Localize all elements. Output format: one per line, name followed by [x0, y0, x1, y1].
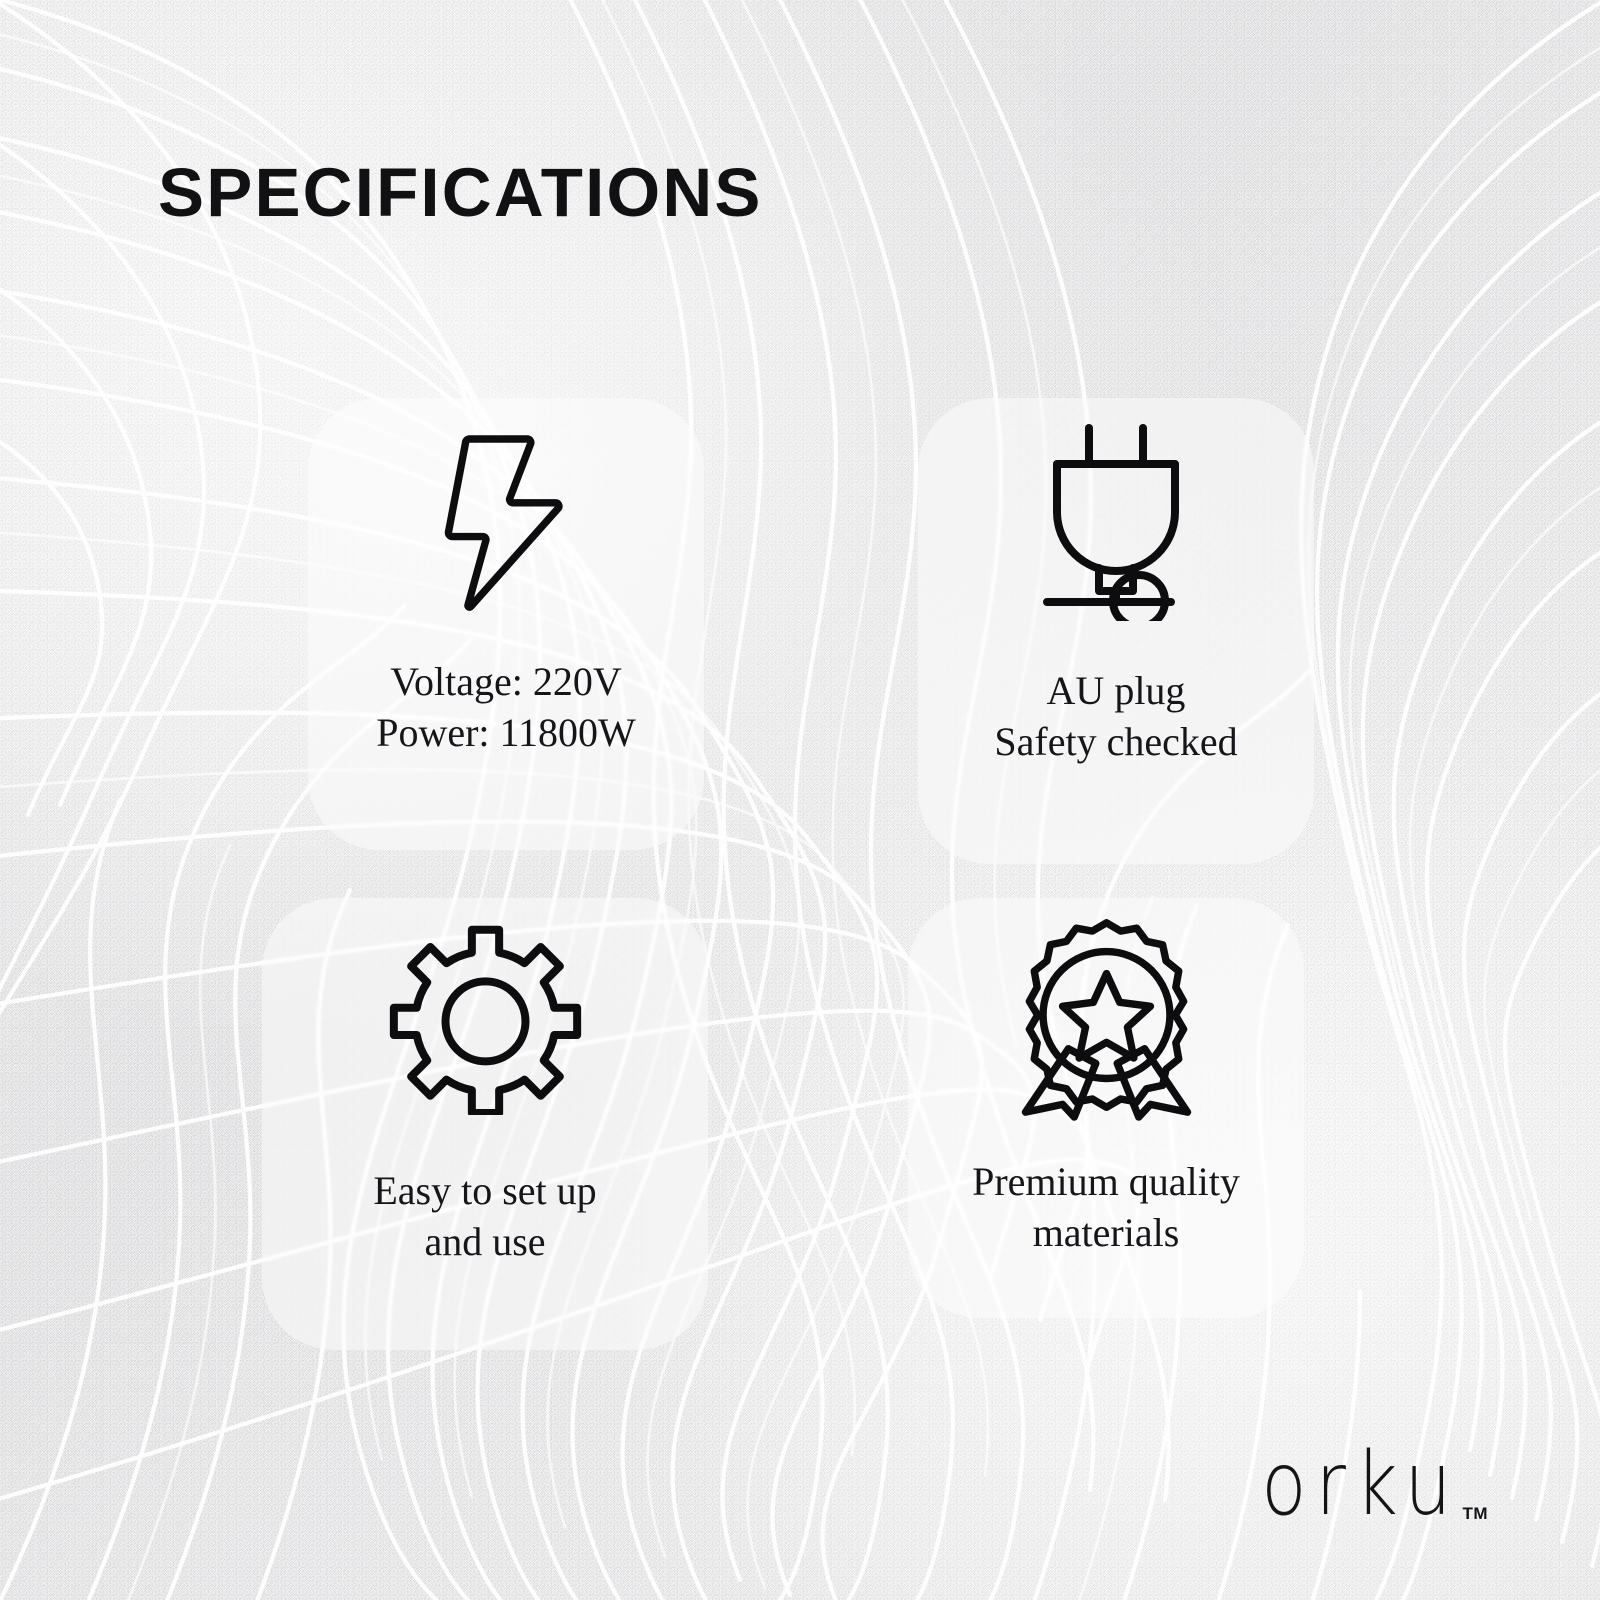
trademark-symbol: TM	[1462, 1504, 1488, 1524]
topographic-contour-pattern	[0, 0, 1600, 1600]
power-plug-icon	[1021, 416, 1211, 621]
spec-card-setup-text: Easy to set up and use	[373, 1165, 596, 1267]
spec-card-voltage-text: Voltage: 220V Power: 11800W	[376, 656, 636, 758]
spec-card-setup[interactable]: Easy to set up and use	[262, 898, 708, 1350]
gear-icon	[388, 920, 583, 1115]
brand-logo: orku TM	[1261, 1455, 1488, 1528]
specifications-slide: SPECIFICATIONS Voltage: 220V Power: 1180…	[0, 0, 1600, 1600]
spec-card-plug[interactable]: AU plug Safety checked	[918, 398, 1314, 864]
page-title: SPECIFICATIONS	[158, 158, 763, 227]
spec-card-voltage[interactable]: Voltage: 220V Power: 11800W	[308, 398, 704, 850]
brand-logo-wordmark: orku	[1261, 1442, 1460, 1528]
spec-card-plug-text: AU plug Safety checked	[994, 665, 1237, 767]
spec-card-quality-text: Premium quality materials	[972, 1156, 1240, 1258]
lightning-bolt-icon	[421, 422, 591, 622]
spec-card-quality[interactable]: Premium quality materials	[908, 898, 1304, 1318]
award-badge-icon	[1004, 912, 1209, 1122]
